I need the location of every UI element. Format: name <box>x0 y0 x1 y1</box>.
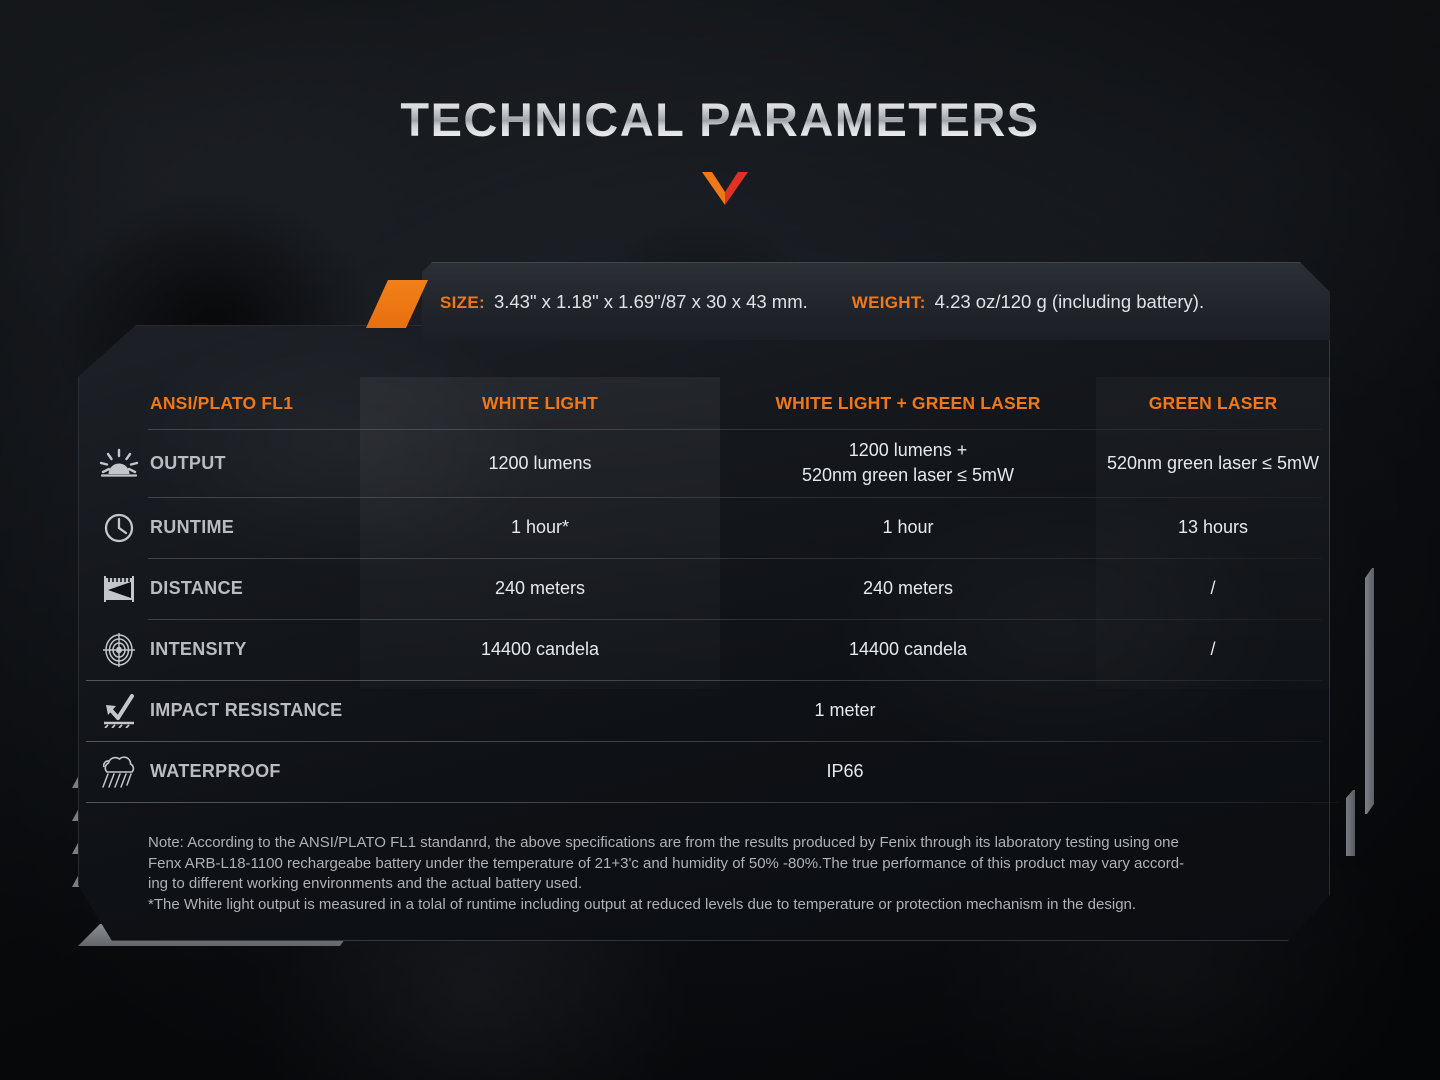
sunburst-icon <box>98 448 140 478</box>
cell-output-combo-line2: 520nm green laser ≤ 5mW <box>720 463 1096 488</box>
table-row: RUNTIME 1 hour* 1 hour 13 hours <box>78 497 1330 558</box>
table-row: WATERPROOF IP66 <box>78 741 1330 802</box>
cell-output-green-laser: 520nm green laser ≤ 5mW <box>1107 453 1319 473</box>
footnote: Note: According to the ANSI/PLATO FL1 st… <box>148 833 1310 915</box>
row-label-intensity: INTENSITY <box>150 639 247 660</box>
right-accent-bar-lower <box>1346 790 1355 856</box>
column-header-green-laser: GREEN LASER <box>1149 393 1278 413</box>
row-label-distance: DISTANCE <box>150 578 243 599</box>
footnote-line-3: ing to different working environments an… <box>148 874 1310 895</box>
rain-cloud-icon <box>98 755 140 789</box>
footnote-line-2: Fenx ARB-L18-1100 rechargeabe battery un… <box>148 854 1310 875</box>
size-value: 3.43" x 1.18" x 1.69"/87 x 30 x 43 mm. <box>494 291 808 313</box>
cell-waterproof-value: IP66 <box>826 761 863 781</box>
right-accent-bar <box>1365 568 1374 814</box>
column-header-ansi: ANSI/PLATO FL1 <box>150 393 293 414</box>
cell-distance-white-light: 240 meters <box>495 578 585 598</box>
page-title: TECHNICAL PARAMETERS <box>0 92 1440 147</box>
table-row: DISTANCE 240 meters 240 meters / <box>78 558 1330 619</box>
chevron-down-icon <box>702 172 748 205</box>
impact-resistance-icon <box>98 694 140 728</box>
cell-runtime-green-laser: 13 hours <box>1178 517 1248 537</box>
cell-output-combo-line1: 1200 lumens + <box>720 438 1096 463</box>
table-header-row: ANSI/PLATO FL1 WHITE LIGHT WHITE LIGHT +… <box>78 377 1330 429</box>
row-label-output: OUTPUT <box>150 453 226 474</box>
cell-runtime-white-light: 1 hour* <box>511 517 569 537</box>
row-label-runtime: RUNTIME <box>150 517 234 538</box>
cell-distance-combo: 240 meters <box>863 578 953 598</box>
weight-value: 4.23 oz/120 g (including battery). <box>935 291 1204 313</box>
target-intensity-icon <box>98 632 140 668</box>
table-row: OUTPUT 1200 lumens 1200 lumens + 520nm g… <box>78 429 1330 497</box>
size-label: SIZE: <box>440 293 485 313</box>
specifications-table: ANSI/PLATO FL1 WHITE LIGHT WHITE LIGHT +… <box>78 325 1330 803</box>
cell-impact-resistance-value: 1 meter <box>814 700 875 720</box>
weight-label: WEIGHT: <box>852 293 926 313</box>
clock-icon <box>98 512 140 544</box>
column-header-white-plus-laser: WHITE LIGHT + GREEN LASER <box>775 393 1040 413</box>
column-header-white-light: WHITE LIGHT <box>482 393 598 413</box>
footnote-line-4: *The White light output is measured in a… <box>148 895 1310 916</box>
table-row: IMPACT RESISTANCE 1 meter <box>78 680 1330 741</box>
beam-distance-icon <box>98 573 140 605</box>
cell-intensity-green-laser: / <box>1210 639 1215 659</box>
row-label-waterproof: WATERPROOF <box>150 761 281 782</box>
cell-distance-green-laser: / <box>1210 578 1215 598</box>
footnote-line-1: Note: According to the ANSI/PLATO FL1 st… <box>148 833 1310 854</box>
cell-intensity-white-light: 14400 candela <box>481 639 599 659</box>
table-row: INTENSITY 14400 candela 14400 candela / <box>78 619 1330 680</box>
cell-intensity-combo: 14400 candela <box>849 639 967 659</box>
row-label-impact-resistance: IMPACT RESISTANCE <box>150 700 342 721</box>
cell-runtime-combo: 1 hour <box>882 517 933 537</box>
cell-output-white-light: 1200 lumens <box>488 453 591 473</box>
